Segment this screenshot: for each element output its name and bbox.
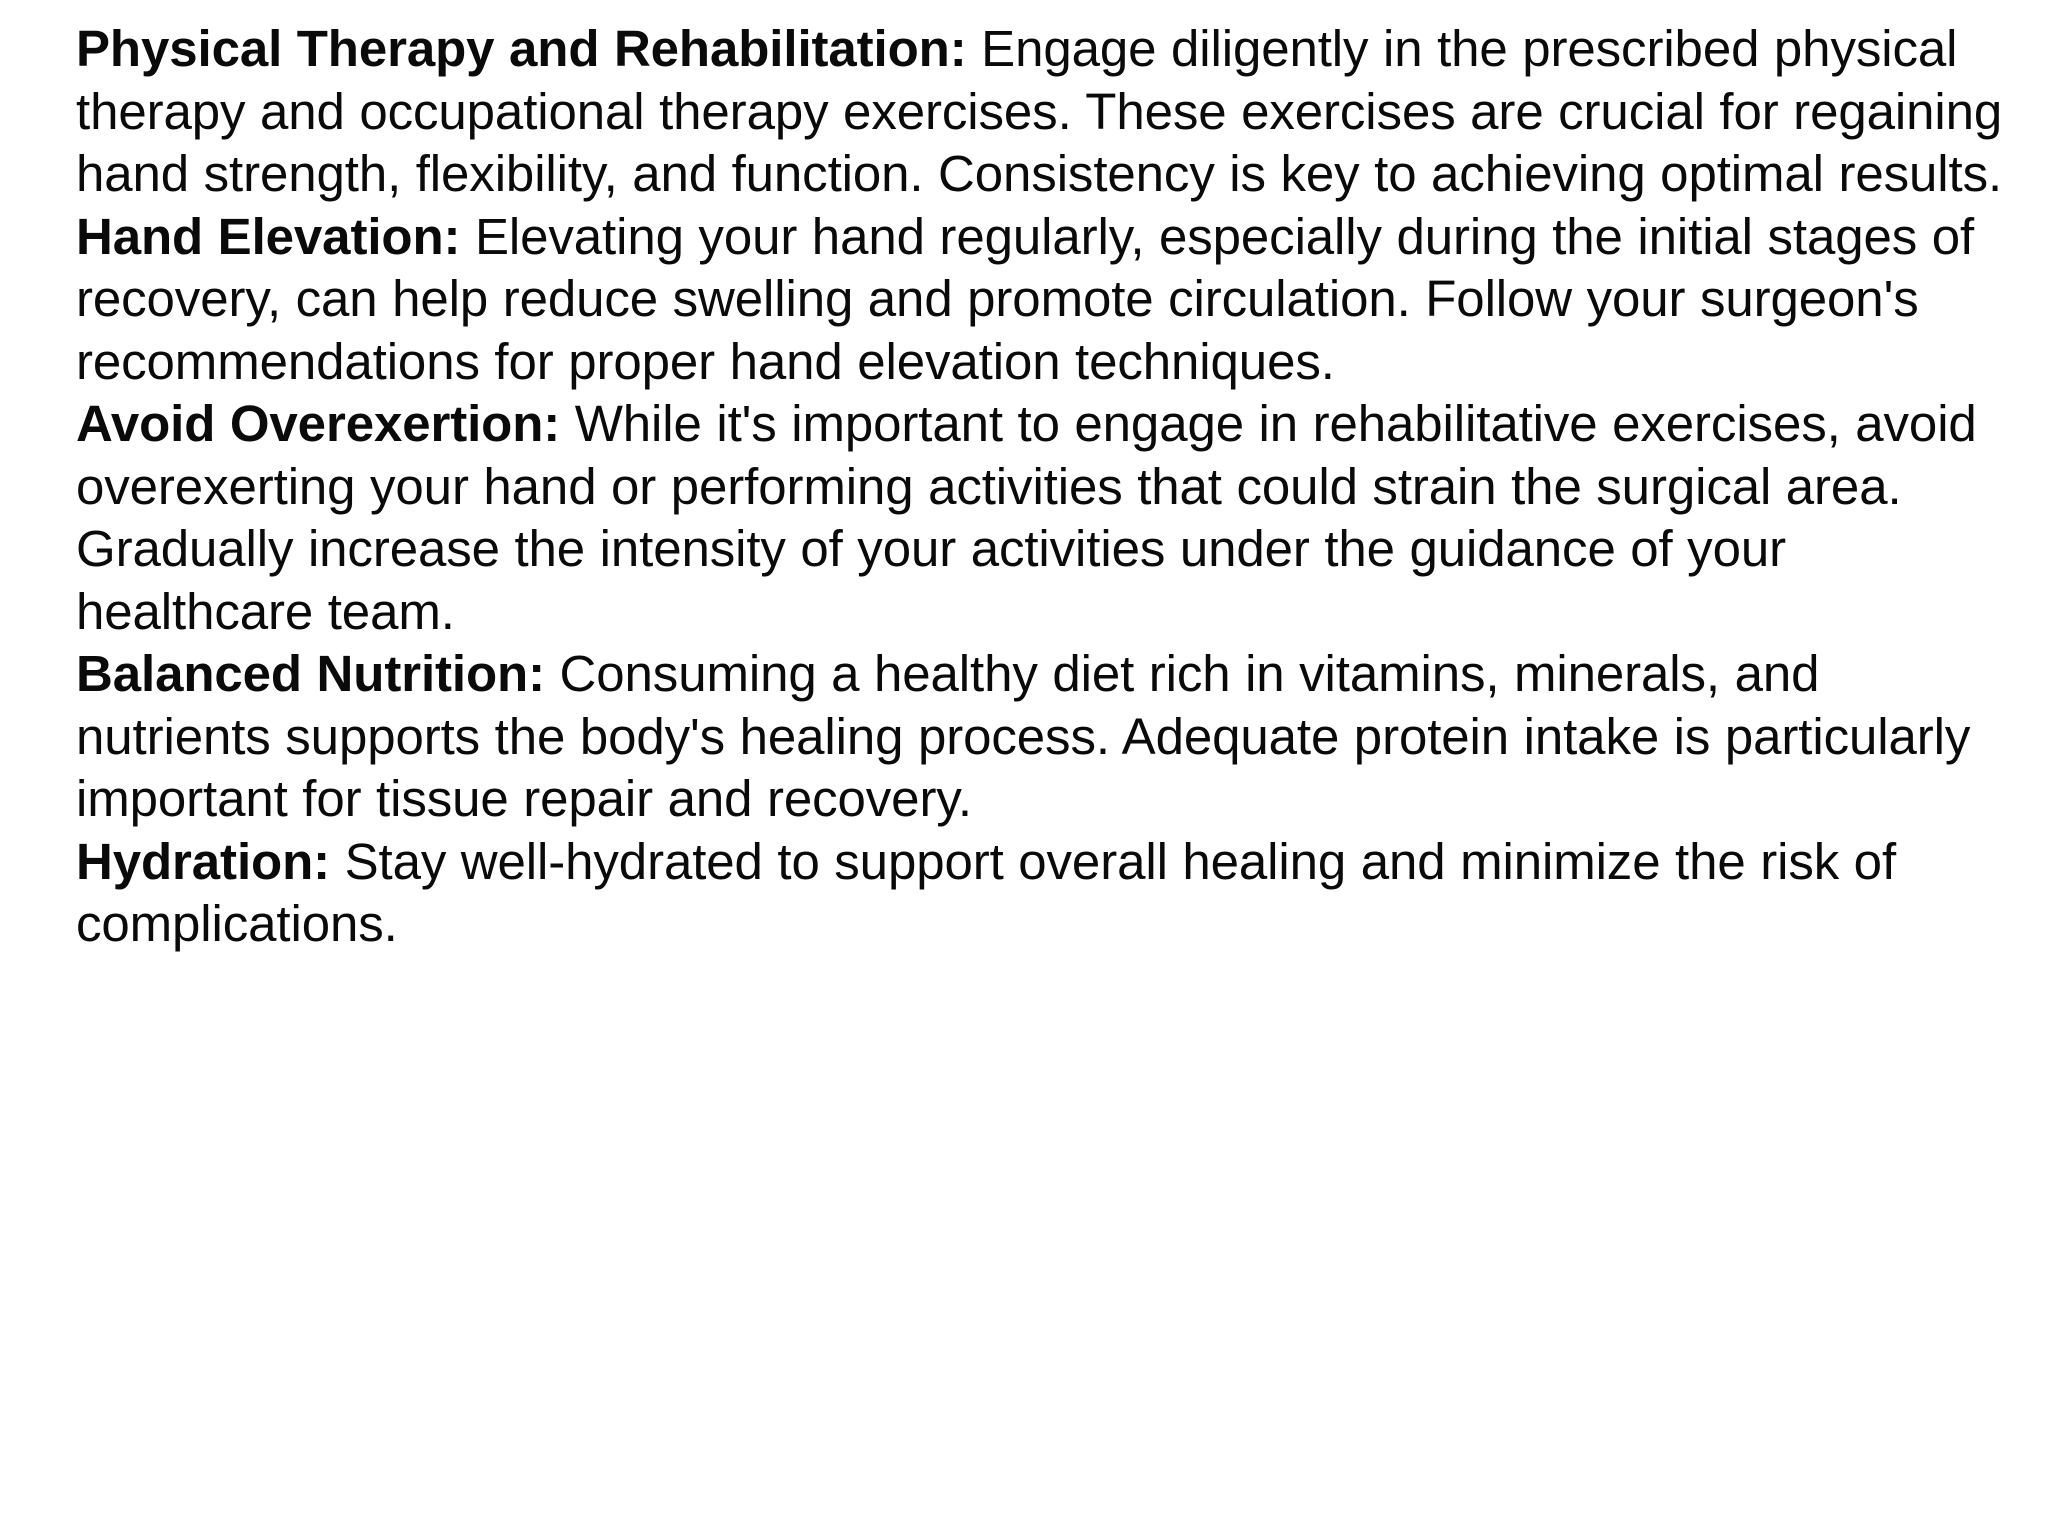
guideline-item: Avoid Overexertion: While it's important… [76,393,2006,643]
guideline-item: Hydration: Stay well-hydrated to support… [76,831,2006,956]
guideline-item: Hand Elevation: Elevating your hand regu… [76,206,2006,394]
guideline-term: Balanced Nutrition: [76,645,545,702]
guideline-term: Hand Elevation: [76,208,460,265]
guideline-detail: Stay well-hydrated to support overall he… [76,833,1896,953]
guideline-term: Hydration: [76,833,330,890]
guideline-term: Physical Therapy and Rehabilitation: [76,20,967,77]
document-body: Physical Therapy and Rehabilitation: Eng… [76,18,2006,956]
guideline-item: Balanced Nutrition: Consuming a healthy … [76,643,2006,831]
document-page: Physical Therapy and Rehabilitation: Eng… [0,0,2048,1536]
guideline-item: Physical Therapy and Rehabilitation: Eng… [76,18,2006,206]
guideline-term: Avoid Overexertion: [76,395,560,452]
